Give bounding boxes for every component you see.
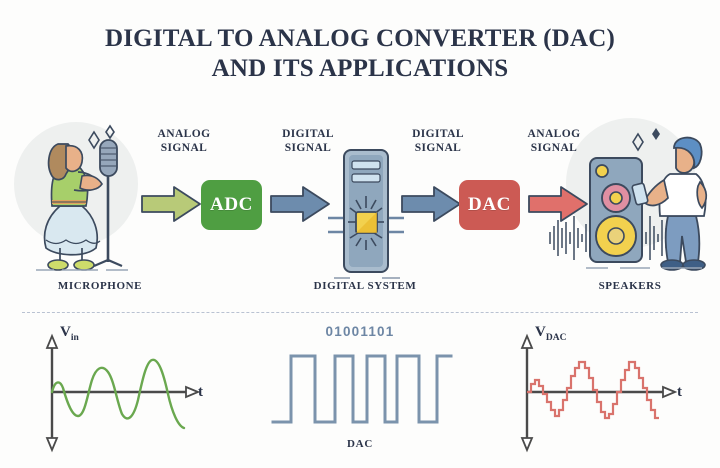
title-line-1: DIGITAL TO ANALOG CONVERTER (DAC) [105, 25, 615, 52]
arrow-analog-in-icon [140, 184, 202, 224]
dac-block[interactable]: DAC [459, 180, 520, 230]
digital-system-illustration [320, 146, 412, 282]
dac-block-label: DAC [468, 194, 511, 216]
signal-label-line-1: ANALOG [138, 128, 230, 142]
stage-label-microphone: MICROPHONE [20, 280, 180, 292]
infographic-canvas: DIGITAL TO ANALOG CONVERTER (DAC) AND IT… [0, 0, 720, 468]
section-divider [22, 312, 698, 313]
waveform-panel-output: VDAC t [495, 322, 710, 462]
signal-label-line-2: SIGNAL [138, 142, 230, 156]
signal-label-line-1: DIGITAL [392, 128, 484, 142]
digital-square-waveform-chart [269, 348, 455, 430]
axis-label-t-left: t [198, 384, 203, 401]
digital-waveform-caption: DAC [255, 438, 465, 450]
signal-label-analog-in: ANALOG SIGNAL [138, 128, 230, 155]
axis-label-t-right: t [677, 384, 682, 401]
waveform-panel-input: Vin t [18, 322, 228, 462]
page-title: DIGITAL TO ANALOG CONVERTER (DAC) AND IT… [0, 24, 720, 84]
signal-label-digital-2: DIGITAL SIGNAL [392, 128, 484, 155]
adc-block[interactable]: ADC [201, 180, 262, 230]
signal-flow-row: ANALOG SIGNAL ADC DIGITAL SIGNAL [0, 108, 720, 288]
stage-label-speakers: SPEAKERS [560, 280, 700, 292]
signal-label-line-2: SIGNAL [392, 142, 484, 156]
speakers-illustration [542, 116, 710, 276]
microphone-illustration [22, 114, 142, 274]
signal-label-line-1: DIGITAL [262, 128, 354, 142]
stage-label-digital-system: DIGITAL SYSTEM [280, 280, 450, 292]
title-line-2: AND ITS APPLICATIONS [0, 54, 720, 84]
waveform-panel-digital: 01001101 DAC [255, 322, 465, 462]
adc-block-label: ADC [210, 194, 253, 216]
binary-bitstream-label: 01001101 [255, 324, 465, 339]
arrow-digital-2-icon [400, 184, 462, 224]
